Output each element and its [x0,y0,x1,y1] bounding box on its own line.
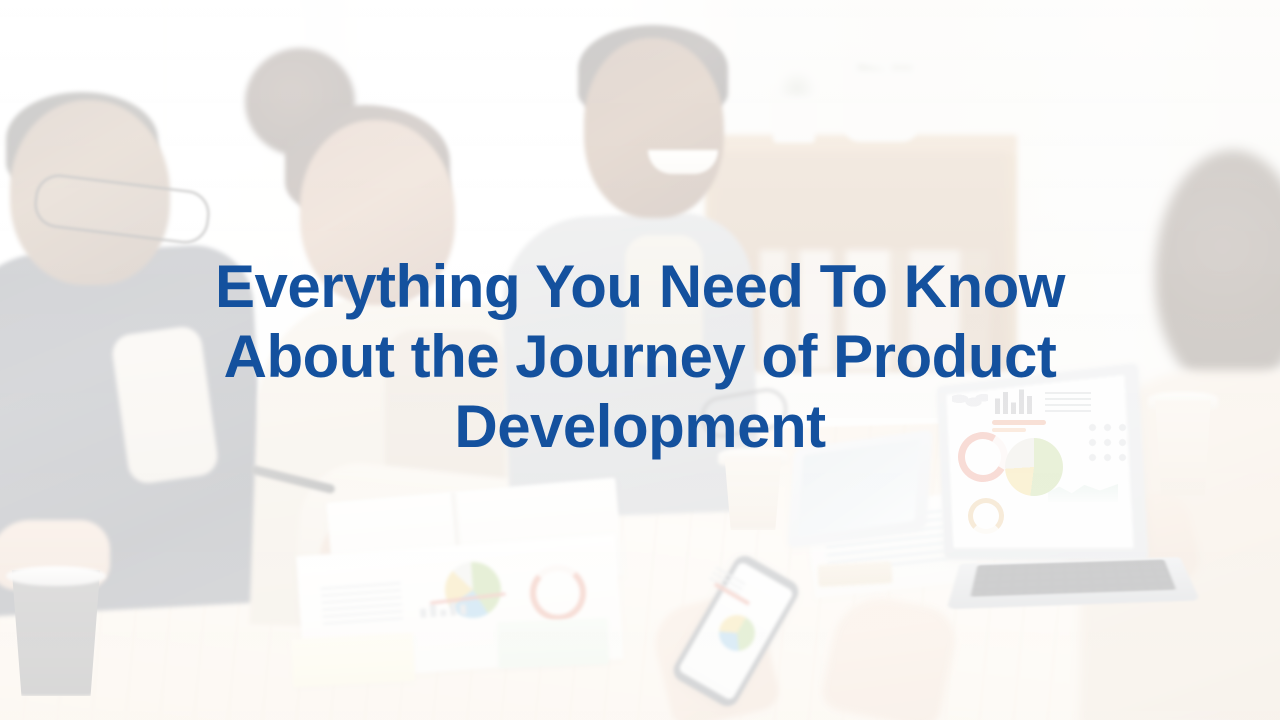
green-sticky-note [497,618,609,668]
page-title: Everything You Need To Know About the Jo… [0,252,1280,462]
paper-coffee-cup [722,456,784,530]
plant-leaves [848,0,912,70]
headline-line-1: Everything You Need To Know [70,252,1210,322]
hero-banner: Everything You Need To Know About the Jo… [0,0,1280,720]
dark-coffee-cup-rim [6,566,106,586]
dark-coffee-cup [8,570,104,696]
headline-line-2: About the Journey of Product [70,322,1210,392]
plant-leaves [778,70,816,96]
plant-pot [845,60,917,142]
headline-line-3: Development [70,392,1210,462]
yellow-sticky-note [291,633,415,687]
dashboard-gauge-chart [968,498,1004,534]
person-gray-blazer-head [584,38,724,218]
report-text-lines [321,582,404,629]
wooden-block [817,561,892,587]
plant-pot [773,88,815,143]
